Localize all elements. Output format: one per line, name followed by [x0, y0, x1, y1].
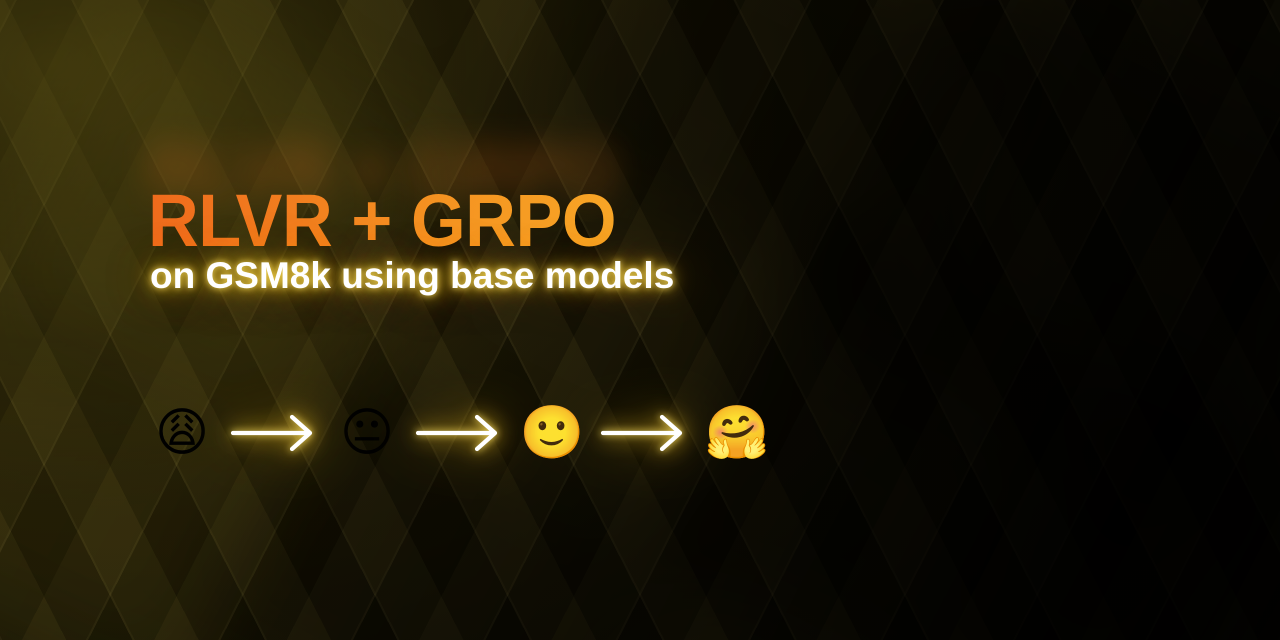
neutral-face-emoji: 😐 [337, 398, 397, 468]
emoji-progression-row: 😩 😐 🙂 🤗 [152, 398, 767, 468]
slide-content: RLVR + GRPO RLVR + GRPO on GSM8k using b… [0, 0, 1280, 640]
weary-face-emoji: 😩 [152, 398, 212, 468]
slide-title: RLVR + GRPO [148, 184, 616, 258]
slide-subtitle: on GSM8k using base models [150, 257, 674, 296]
slightly-smiling-face-emoji: 🙂 [522, 398, 582, 468]
arrow-right-icon [397, 398, 522, 468]
presentation-slide: RLVR + GRPO RLVR + GRPO on GSM8k using b… [0, 0, 1280, 640]
arrow-right-icon [582, 398, 707, 468]
hugging-face-emoji: 🤗 [707, 398, 767, 468]
arrow-right-icon [212, 398, 337, 468]
